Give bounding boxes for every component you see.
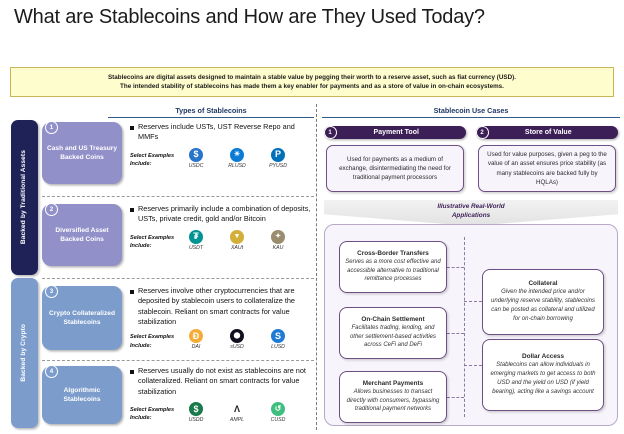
coin-list-4: $ USDD Λ AMPL ↺ CUSD: [182, 402, 292, 423]
type-badge-3: 3: [45, 285, 58, 298]
type-card-3[interactable]: 3 Crypto Collateralized Stablecoins: [42, 286, 122, 350]
type-examples-3: Select Examples Include: Đ DAI ⬤ sUSD S …: [130, 329, 314, 350]
coin-name: CUSD: [264, 417, 292, 423]
application-desc: Given the intended price and/or underlyi…: [488, 288, 598, 324]
category-bar-crypto-label: Backed by Crypto: [20, 324, 28, 382]
row-separator: [42, 278, 314, 279]
slide-canvas: What are Stablecoins and How are They Us…: [0, 0, 624, 434]
category-bar-traditional-label: Backed by Traditional Assets: [20, 150, 28, 244]
examples-label-2: Select Examples Include:: [130, 230, 182, 251]
coin-list-3: Đ DAI ⬤ sUSD S LUSD: [182, 329, 292, 350]
application-title: Dollar Access: [522, 353, 564, 360]
row-separator: [42, 196, 314, 197]
coin-name: AMPL: [223, 417, 251, 423]
column-divider: [316, 104, 317, 430]
category-bar-traditional: Backed by Traditional Assets: [11, 120, 38, 275]
coin-item[interactable]: S LUSD: [264, 329, 292, 350]
page-title: What are Stablecoins and How are They Us…: [14, 6, 485, 29]
application-desc: Allows businesses to transact directly w…: [345, 388, 441, 415]
uses-header-rule: [322, 117, 620, 118]
coin-item[interactable]: ✦ KAU: [264, 230, 292, 251]
use-case-1-label: Payment Tool: [337, 129, 467, 136]
use-case-2-label: Store of Value: [489, 129, 619, 136]
usdd-coin-icon: $: [189, 402, 203, 416]
type-card-4[interactable]: 4 Algorithmic Stablecoins: [42, 366, 122, 424]
types-header-label: Types of Stablecoins: [108, 106, 314, 115]
use-case-1-body: Used for payments as a medium of exchang…: [333, 155, 457, 183]
stablecoin-use-cases-header: Stablecoin Use Cases: [322, 106, 620, 118]
bullet-square-icon: [130, 290, 134, 294]
type-card-4-label: Algorithmic Stablecoins: [45, 386, 119, 404]
type-card-2[interactable]: 2 Diversified Asset Backed Coins: [42, 204, 122, 266]
coin-item[interactable]: Đ DAI: [182, 329, 210, 350]
use-case-2-number: 2: [476, 126, 489, 139]
type-bullet-1: Reserves include USTs, UST Reverse Repo …: [130, 122, 314, 143]
use-case-pill-1[interactable]: 1 Payment Tool: [324, 126, 466, 139]
rlusd-coin-icon: ✳: [230, 148, 244, 162]
application-title: Collateral: [528, 280, 557, 287]
coin-name: sUSD: [223, 344, 251, 350]
type-body-2: Reserves primarily include a combination…: [130, 204, 314, 251]
use-case-1-number: 1: [324, 126, 337, 139]
type-examples-2: Select Examples Include: ₮ USDT ▼ XAUt ✦…: [130, 230, 314, 251]
applications-connector-h2: [447, 333, 464, 334]
coin-list-2: ₮ USDT ▼ XAUt ✦ KAU: [182, 230, 292, 251]
applications-container: Cross-Border Transfers Serves as a more …: [324, 224, 618, 426]
category-bar-crypto: Backed by Crypto: [11, 278, 38, 428]
coin-name: RLUSD: [223, 163, 251, 169]
application-desc: Facilitates trading, lending, and other …: [345, 324, 441, 351]
coin-item[interactable]: ▼ XAUt: [223, 230, 251, 251]
use-case-box-1: Used for payments as a medium of exchang…: [326, 145, 464, 192]
use-case-pill-2[interactable]: 2 Store of Value: [476, 126, 618, 139]
coin-item[interactable]: $ USDD: [182, 402, 210, 423]
application-dollar-access[interactable]: Dollar Access Stablecoins can allow indi…: [482, 339, 604, 411]
dai-coin-icon: Đ: [189, 329, 203, 343]
type-bullet-4: Reserves usually do not exist as stablec…: [130, 366, 314, 397]
type-body-3: Reserves involve other cryptocurrencies …: [130, 286, 314, 350]
bullet-square-icon: [130, 370, 134, 374]
applications-connector-vertical: [464, 237, 465, 417]
coin-list-1: $ USDC ✳ RLUSD P PYUSD: [182, 148, 292, 169]
type-badge-4: 4: [45, 365, 58, 378]
lusd-coin-icon: S: [271, 329, 285, 343]
coin-name: DAI: [182, 344, 210, 350]
coin-item[interactable]: ₮ USDT: [182, 230, 210, 251]
bullet-square-icon: [130, 208, 134, 212]
coin-item[interactable]: ↺ CUSD: [264, 402, 292, 423]
type-bullet-1-text: Reserves include USTs, UST Reverse Repo …: [138, 122, 314, 143]
type-bullet-3-text: Reserves involve other cryptocurrencies …: [138, 286, 314, 327]
banner-line-1: Illustrative Real-World: [437, 202, 504, 211]
types-header-rule: [108, 117, 314, 118]
applications-connector-h3: [447, 397, 464, 398]
coin-item[interactable]: $ USDC: [182, 148, 210, 169]
cusd-coin-icon: ↺: [271, 402, 285, 416]
application-title: Merchant Payments: [363, 380, 423, 387]
type-card-3-label: Crypto Collateralized Stablecoins: [45, 309, 119, 327]
examples-label-3: Select Examples Include:: [130, 329, 182, 350]
type-examples-4: Select Examples Include: $ USDD Λ AMPL ↺…: [130, 402, 314, 423]
applications-connector-h5: [464, 365, 482, 366]
bullet-square-icon: [130, 126, 134, 130]
application-on-chain-settlement[interactable]: On-Chain Settlement Facilitates trading,…: [339, 307, 447, 359]
type-examples-1: Select Examples Include: $ USDC ✳ RLUSD …: [130, 148, 314, 169]
row-separator: [42, 360, 314, 361]
coin-name: USDT: [182, 245, 210, 251]
type-badge-2: 2: [45, 203, 58, 216]
application-merchant-payments[interactable]: Merchant Payments Allows businesses to t…: [339, 371, 447, 423]
type-bullet-3: Reserves involve other cryptocurrencies …: [130, 286, 314, 327]
usdc-coin-icon: $: [189, 148, 203, 162]
uses-header-label: Stablecoin Use Cases: [322, 106, 620, 115]
kau-coin-icon: ✦: [271, 230, 285, 244]
applications-connector-h1: [447, 267, 464, 268]
coin-name: KAU: [264, 245, 292, 251]
applications-connector-h4: [464, 301, 482, 302]
xaut-coin-icon: ▼: [230, 230, 244, 244]
type-card-1-label: Cash and US Treasury Backed Coins: [45, 144, 119, 162]
type-body-4: Reserves usually do not exist as stablec…: [130, 366, 314, 423]
examples-label-1: Select Examples Include:: [130, 148, 182, 169]
type-badge-1: 1: [45, 121, 58, 134]
susd-coin-icon: ⬤: [230, 329, 244, 343]
use-case-box-2: Used for value purposes, given a peg to …: [478, 145, 616, 192]
use-case-2-body: Used for value purposes, given a peg to …: [485, 150, 609, 187]
application-title: Cross-Border Transfers: [357, 250, 429, 257]
coin-name: LUSD: [264, 344, 292, 350]
coin-item[interactable]: Λ AMPL: [223, 402, 251, 423]
pyusd-coin-icon: P: [271, 148, 285, 162]
coin-name: USDC: [182, 163, 210, 169]
coin-item[interactable]: P PYUSD: [264, 148, 292, 169]
summary-callout: Stablecoins are digital assets designed …: [10, 67, 614, 97]
coin-name: PYUSD: [264, 163, 292, 169]
coin-item[interactable]: ⬤ sUSD: [223, 329, 251, 350]
type-bullet-4-text: Reserves usually do not exist as stablec…: [138, 366, 314, 397]
coin-name: USDD: [182, 417, 210, 423]
type-card-2-label: Diversified Asset Backed Coins: [45, 226, 119, 244]
application-title: On-Chain Settlement: [361, 316, 424, 323]
application-desc: Stablecoins can allow individuals in eme…: [488, 361, 598, 397]
callout-line-2: The intended stability of stablecoins ha…: [120, 82, 504, 91]
coin-item[interactable]: ✳ RLUSD: [223, 148, 251, 169]
usdt-coin-icon: ₮: [189, 230, 203, 244]
application-desc: Serves as a more cost effective and acce…: [345, 258, 441, 285]
callout-line-1: Stablecoins are digital assets designed …: [108, 73, 516, 82]
illustrative-applications-banner: Illustrative Real-World Applications: [324, 200, 618, 226]
application-cross-border-transfers[interactable]: Cross-Border Transfers Serves as a more …: [339, 241, 447, 293]
type-body-1: Reserves include USTs, UST Reverse Repo …: [130, 122, 314, 169]
examples-label-4: Select Examples Include:: [130, 402, 182, 423]
types-of-stablecoins-header: Types of Stablecoins: [108, 106, 314, 118]
ampl-coin-icon: Λ: [230, 402, 244, 416]
type-card-1[interactable]: 1 Cash and US Treasury Backed Coins: [42, 122, 122, 184]
banner-line-2: Applications: [452, 211, 490, 220]
type-bullet-2-text: Reserves primarily include a combination…: [138, 204, 314, 225]
type-bullet-2: Reserves primarily include a combination…: [130, 204, 314, 225]
application-collateral[interactable]: Collateral Given the intended price and/…: [482, 269, 604, 335]
coin-name: XAUt: [223, 245, 251, 251]
